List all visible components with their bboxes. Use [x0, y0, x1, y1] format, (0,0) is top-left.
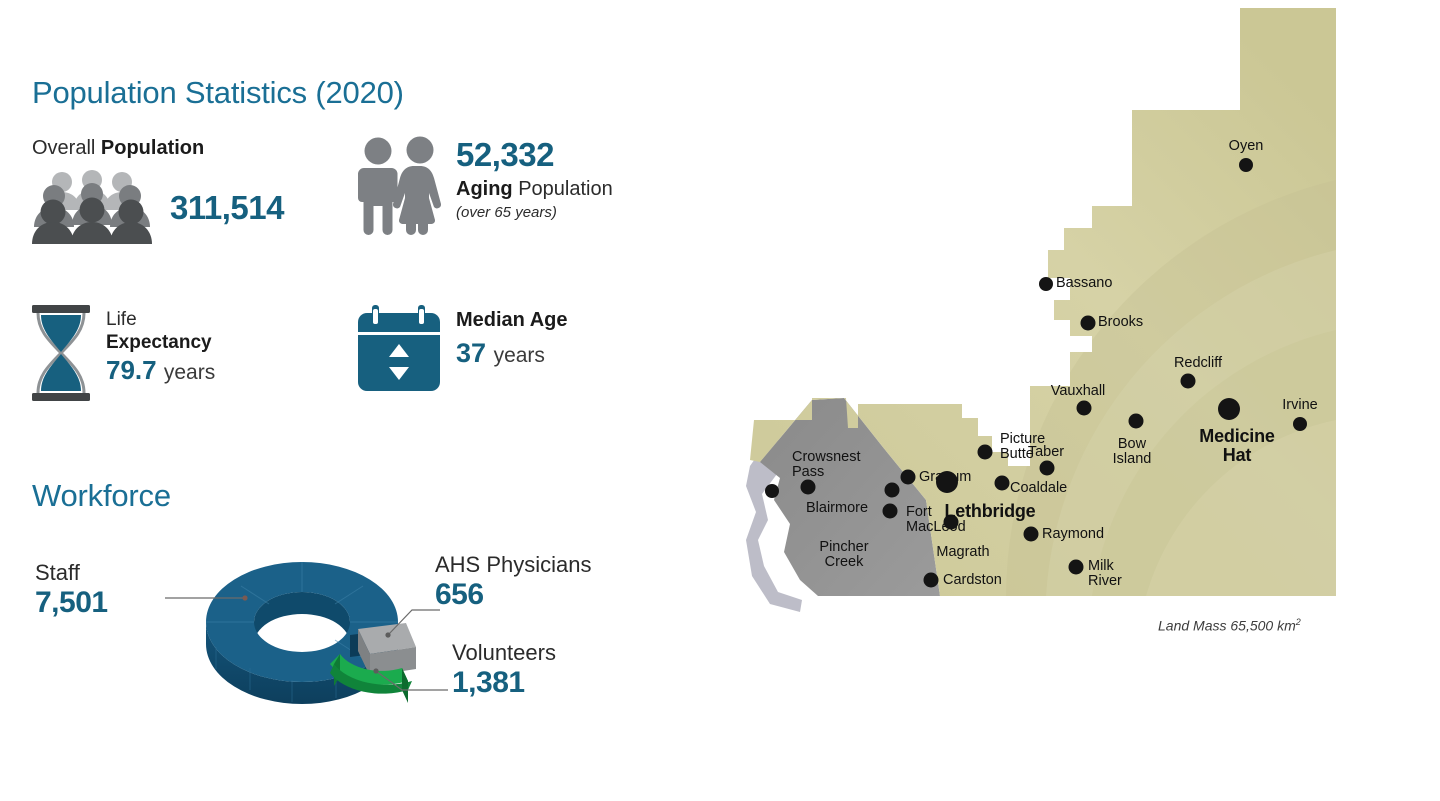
- callout-anchor-volunteers: [373, 668, 378, 673]
- workforce-callout-volunteers: Volunteers 1,381: [452, 640, 556, 700]
- life-expectancy-label-line2: Expectancy: [106, 332, 212, 353]
- map-city-label: Magrath: [936, 545, 989, 560]
- map-city-dot: [883, 504, 898, 519]
- map-land-mass-text: Land Mass 65,500 km: [1158, 618, 1296, 634]
- donut-slice-ahs-physicians: [358, 623, 416, 676]
- map-city-dot: [995, 476, 1010, 491]
- workforce-callout-staff: Staff 7,501: [35, 560, 108, 620]
- overall-population-label-bold: Population: [101, 137, 204, 159]
- map-city-label: Lethbridge: [945, 502, 1036, 521]
- callout-anchor-physicians: [385, 632, 390, 637]
- life-expectancy-label-line1: Life: [106, 309, 137, 330]
- map-city-dot: [1181, 374, 1196, 389]
- map-city-label: Taber: [1028, 445, 1064, 460]
- stats-column: Population Statistics (2020) Overall Pop…: [0, 0, 740, 801]
- map-city-dot: [1239, 158, 1253, 172]
- map-city-label: Redcliff: [1174, 356, 1222, 371]
- map-city-label: Cardston: [943, 573, 1002, 588]
- map-city-label: PincherCreek: [819, 540, 868, 570]
- map-city-label: Raymond: [1042, 527, 1104, 542]
- callout-anchor-staff: [242, 595, 247, 600]
- map-city-label: Blairmore: [806, 501, 868, 516]
- aging-population-label-bold: Aging: [456, 178, 513, 200]
- workforce-volunteers-value: 1,381: [452, 666, 556, 700]
- map-city-dot: [924, 573, 939, 588]
- infographic-page: Population Statistics (2020) Overall Pop…: [0, 0, 1440, 801]
- map-land-mass-caption: Land Mass 65,500 km2: [1158, 617, 1301, 634]
- map-city-dot: [1218, 398, 1240, 420]
- aging-population-note: (over 65 years): [456, 204, 613, 221]
- map-city-dot: [1077, 401, 1092, 416]
- map-city-label: MilkRiver: [1088, 559, 1122, 589]
- map-city-dot: [1040, 461, 1055, 476]
- hourglass-icon: [30, 305, 92, 406]
- map-city-dot: [1069, 560, 1084, 575]
- aging-population-label-plain: Population: [513, 178, 613, 200]
- crowd-icon: [32, 166, 152, 249]
- map-city-label: Irvine: [1282, 398, 1317, 413]
- map-city-label: Vauxhall: [1051, 384, 1106, 399]
- man-woman-icon: [356, 136, 446, 241]
- map-city-label: Bassano: [1056, 276, 1112, 291]
- median-age-unit: years: [494, 344, 545, 367]
- overall-population-value: 311,514: [170, 189, 284, 227]
- life-expectancy-value-row: 79.7 years: [106, 355, 215, 386]
- workforce-heading: Workforce: [32, 478, 171, 514]
- workforce-staff-label: Staff: [35, 560, 108, 586]
- map-city-label: BowIsland: [1113, 437, 1152, 467]
- map-city-dot: [1129, 414, 1144, 429]
- map-city-dot: [1039, 277, 1053, 291]
- map-city-dot: [1293, 417, 1307, 431]
- south-zone-map: OyenBassanoBrooksRedcliffIrvineVauxhallB…: [740, 0, 1440, 801]
- workforce-physicians-value: 656: [435, 578, 592, 612]
- map-city-label: MedicineHat: [1199, 427, 1274, 465]
- workforce-staff-value: 7,501: [35, 586, 108, 620]
- median-age-value: 37: [456, 338, 486, 368]
- map-land-mass-superscript: 2: [1296, 617, 1301, 627]
- workforce-donut-chart: Staff 7,501 AHS Physicians 656 Volunteer…: [20, 530, 660, 730]
- map-city-label: Brooks: [1098, 315, 1143, 330]
- workforce-physicians-label: AHS Physicians: [435, 552, 592, 578]
- life-expectancy-value: 79.7: [106, 355, 157, 385]
- map-city-dot: [978, 445, 993, 460]
- population-statistics-heading: Population Statistics (2020): [32, 75, 404, 111]
- overall-population-stat: Overall Population: [32, 137, 332, 249]
- life-expectancy-unit: years: [164, 361, 215, 384]
- map-city-dot: [765, 484, 779, 498]
- life-expectancy-stat: Life Expectancy 79.7 years: [30, 305, 215, 406]
- workforce-callout-physicians: AHS Physicians 656: [435, 552, 592, 612]
- median-age-stat: Median Age 37 years: [356, 305, 568, 396]
- life-expectancy-label: Life Expectancy: [106, 308, 215, 354]
- calendar-icon: [356, 305, 442, 396]
- median-age-value-row: 37 years: [456, 338, 568, 369]
- aging-population-value: 52,332: [456, 138, 613, 171]
- map-city-dot: [936, 471, 958, 493]
- map-city-dot: [1081, 316, 1096, 331]
- map-city-dot: [801, 480, 816, 495]
- median-age-label: Median Age: [456, 309, 568, 332]
- map-city-dot: [885, 483, 900, 498]
- map-city-dot: [901, 470, 916, 485]
- map-city-label: Oyen: [1229, 139, 1264, 154]
- workforce-volunteers-label: Volunteers: [452, 640, 556, 666]
- map-city-label: Coaldale: [1010, 481, 1067, 496]
- overall-population-label-plain: Overall: [32, 137, 101, 159]
- map-city-dot: [1024, 527, 1039, 542]
- map-city-label: CrowsnestPass: [792, 450, 861, 480]
- overall-population-label: Overall Population: [32, 137, 332, 160]
- aging-population-stat: 52,332 Aging Population (over 65 years): [356, 136, 613, 241]
- aging-population-label: Aging Population: [456, 178, 613, 201]
